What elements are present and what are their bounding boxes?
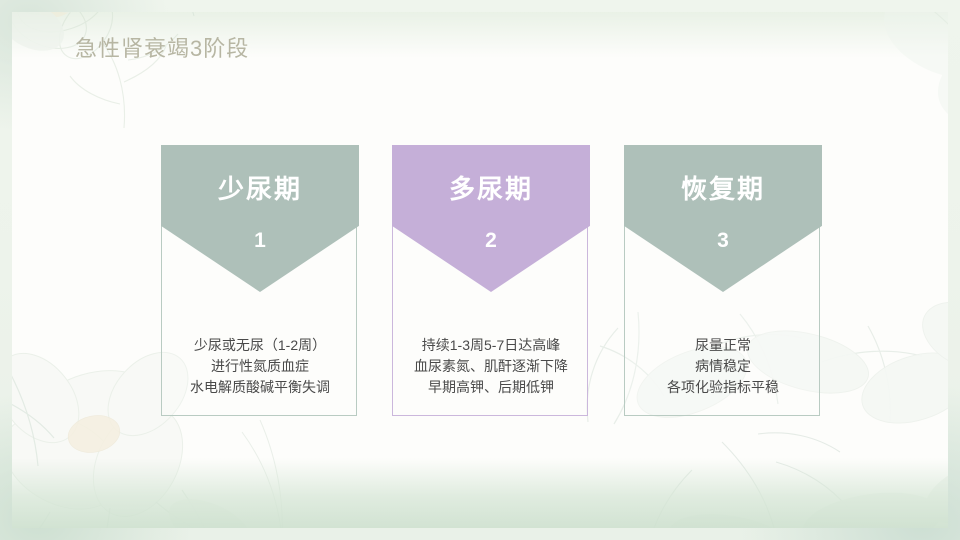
stage-card-3-title: 恢复期 — [624, 169, 822, 206]
stage-card-1-title: 少尿期 — [161, 169, 359, 206]
stage-card-2-line-2: 血尿素氮、肌酐逐渐下降 — [392, 356, 590, 377]
stage-card-3-line-3: 各项化验指标平稳 — [624, 377, 822, 398]
bottom-green-band — [12, 458, 948, 528]
stage-card-3-line-1: 尿量正常 — [624, 335, 822, 356]
stage-card-2-line-3: 早期高钾、后期低钾 — [392, 377, 590, 398]
stage-card-3-line-2: 病情稳定 — [624, 356, 822, 377]
stage-card-3[interactable]: 恢复期 3 尿量正常 病情稳定 各项化验指标平稳 — [624, 145, 822, 419]
slide-canvas: 急性肾衰竭3阶段 少尿期 1 少尿或无尿（1-2周） 进行性氮质血症 水电解质酸… — [0, 0, 960, 540]
stage-card-2-title: 多尿期 — [392, 169, 590, 206]
stage-card-1-line-1: 少尿或无尿（1-2周） — [161, 335, 359, 356]
stage-card-3-body: 尿量正常 病情稳定 各项化验指标平稳 — [624, 335, 822, 398]
stage-card-2-body: 持续1-3周5-7日达高峰 血尿素氮、肌酐逐渐下降 早期高钾、后期低钾 — [392, 335, 590, 398]
stage-card-2[interactable]: 多尿期 2 持续1-3周5-7日达高峰 血尿素氮、肌酐逐渐下降 早期高钾、后期低… — [392, 145, 590, 419]
page-title: 急性肾衰竭3阶段 — [75, 34, 249, 64]
stage-card-1-line-3: 水电解质酸碱平衡失调 — [161, 377, 359, 398]
stage-card-2-line-1: 持续1-3周5-7日达高峰 — [392, 335, 590, 356]
stage-card-group: 少尿期 1 少尿或无尿（1-2周） 进行性氮质血症 水电解质酸碱平衡失调 多尿期… — [12, 145, 948, 425]
stage-card-1[interactable]: 少尿期 1 少尿或无尿（1-2周） 进行性氮质血症 水电解质酸碱平衡失调 — [161, 145, 359, 419]
stage-card-1-line-2: 进行性氮质血症 — [161, 356, 359, 377]
stage-card-1-body: 少尿或无尿（1-2周） 进行性氮质血症 水电解质酸碱平衡失调 — [161, 335, 359, 398]
slide-content-panel: 急性肾衰竭3阶段 少尿期 1 少尿或无尿（1-2周） 进行性氮质血症 水电解质酸… — [12, 12, 948, 528]
